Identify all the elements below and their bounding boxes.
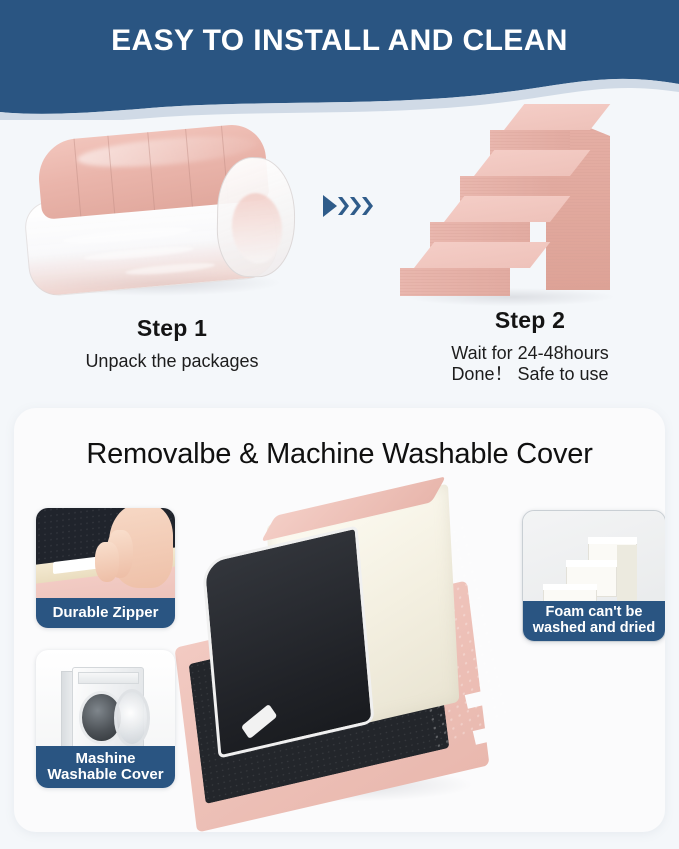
step-2-description-line-1: Wait for 24-48hours <box>400 343 660 364</box>
thumbnail-foam-not-washable[interactable]: Foam can't be washed and dried <box>522 510 665 642</box>
roll-body <box>14 121 294 299</box>
washer-control-panel <box>78 672 139 684</box>
hero-peeled-cover-flap <box>201 525 374 758</box>
stair-tread <box>414 242 550 268</box>
chevron-right-icon <box>350 196 361 216</box>
foam-step-bottom-face <box>543 584 597 591</box>
step-2-description-line-2: Done！ Safe to use <box>400 364 660 385</box>
washable-cover-card: Removalbe & Machine Washable Cover Durab… <box>14 408 665 832</box>
step-2-description: Wait for 24-48hours Done！ Safe to use <box>400 343 660 385</box>
stair-tread <box>474 150 590 176</box>
hero-product-image <box>174 496 524 826</box>
steps-section: Step 1 Unpack the packages Step 2 Wait f… <box>0 100 679 400</box>
step-1-title: Step 1 <box>22 315 322 342</box>
card-title: Removalbe & Machine Washable Cover <box>14 438 665 471</box>
thumbnail-label-zipper: Durable Zipper <box>36 598 175 628</box>
thumbnail-label-foam-line-1: Foam can't be <box>533 605 655 621</box>
step-1-description: Unpack the packages <box>22 351 322 372</box>
chevron-right-icon <box>362 196 373 216</box>
stair-step-1 <box>400 242 580 294</box>
stair-tread <box>504 104 610 130</box>
foam-step-top-face <box>588 537 636 544</box>
thumbnail-label-foam: Foam can't be washed and dried <box>523 601 665 641</box>
thumbnail-label-washer: Mashine Washable Cover <box>36 746 175 788</box>
chevrons-right-icon <box>323 193 385 219</box>
stair-riser <box>400 268 510 296</box>
finger-graphic <box>95 542 119 582</box>
foam-ridges <box>400 268 510 296</box>
hero-cover-strap <box>241 704 277 739</box>
thumbnail-label-washer-line-2: Washable Cover <box>47 767 163 783</box>
stair-tread <box>444 196 570 222</box>
thumbnail-durable-zipper[interactable]: Durable Zipper <box>36 508 175 628</box>
step-2-title: Step 2 <box>400 307 660 334</box>
arrow-triangle-icon <box>323 195 337 217</box>
stair-step-4 <box>490 104 610 156</box>
stair-step-2 <box>430 196 590 248</box>
stair-step-3 <box>460 150 600 202</box>
vacuum-packed-roll-image <box>14 122 304 312</box>
thumbnail-machine-washable[interactable]: Mashine Washable Cover <box>36 650 175 788</box>
pink-pet-stairs-image <box>398 100 628 312</box>
thumbnail-label-foam-line-2: washed and dried <box>533 621 655 637</box>
roll-crease <box>74 139 82 217</box>
washer-open-door <box>114 689 150 747</box>
chevron-right-icon <box>338 196 349 216</box>
foam-step-mid-face <box>566 560 617 567</box>
roll-highlight <box>76 131 258 173</box>
step-1-caption: Step 1 Unpack the packages <box>22 315 322 372</box>
step-2-caption: Step 2 Wait for 24-48hours Done！ Safe to… <box>400 307 660 385</box>
page-title: EASY TO INSTALL AND CLEAN <box>0 24 679 58</box>
thumbnail-label-washer-line-1: Mashine <box>47 751 163 767</box>
